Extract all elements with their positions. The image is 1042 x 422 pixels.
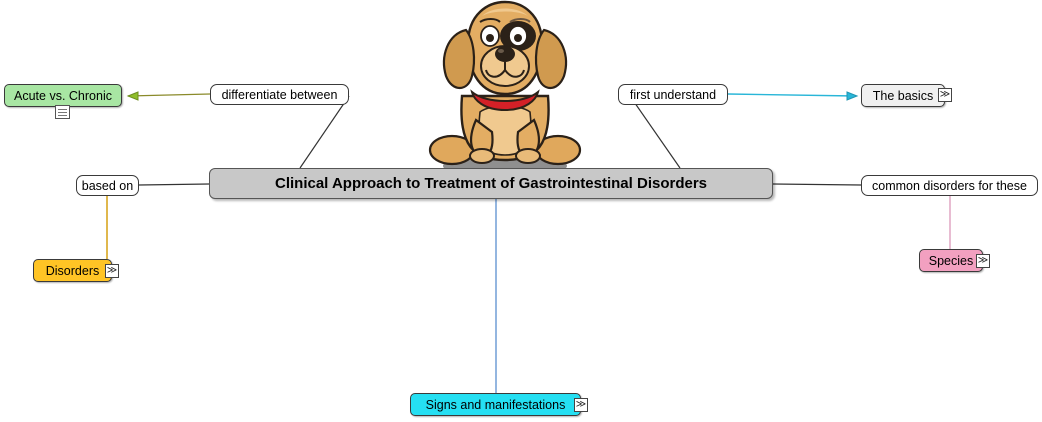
topic-acute-vs-chronic-label: Acute vs. Chronic <box>14 89 112 103</box>
arrowhead-acute <box>128 92 138 100</box>
topic-species-label: Species <box>929 254 973 268</box>
expander-icon-species[interactable]: ≫ <box>976 254 990 268</box>
mind-map-canvas: Clinical Approach to Treatment of Gastro… <box>0 0 1042 422</box>
topic-the-basics[interactable]: The basics <box>861 84 945 107</box>
link-first-understand-basics <box>728 94 855 96</box>
link-central-basedon <box>139 184 209 185</box>
link-central-first-understand <box>630 96 680 168</box>
arrowhead-basics <box>847 92 857 100</box>
expander-icon-signs[interactable]: ≫ <box>574 398 588 412</box>
relation-label-text: first understand <box>630 88 716 102</box>
link-central-common <box>773 184 861 185</box>
topic-signs-and-manifestations[interactable]: Signs and manifestations <box>410 393 581 416</box>
topic-species[interactable]: Species <box>919 249 983 272</box>
expander-icon-the-basics[interactable]: ≫ <box>938 88 952 102</box>
central-topic[interactable]: Clinical Approach to Treatment of Gastro… <box>209 168 773 199</box>
topic-acute-vs-chronic[interactable]: Acute vs. Chronic <box>4 84 122 107</box>
relation-label-based-on[interactable]: based on <box>76 175 139 196</box>
topic-the-basics-label: The basics <box>873 89 933 103</box>
relation-label-text: common disorders for these <box>872 179 1027 193</box>
central-topic-label: Clinical Approach to Treatment of Gastro… <box>275 175 707 192</box>
topic-disorders[interactable]: Disorders <box>33 259 112 282</box>
relation-label-common-disorders[interactable]: common disorders for these <box>861 175 1038 196</box>
relation-label-first-understand[interactable]: first understand <box>618 84 728 105</box>
relation-label-differentiate-between[interactable]: differentiate between <box>210 84 349 105</box>
relation-label-text: based on <box>82 179 133 193</box>
link-differentiate-acute <box>128 94 210 96</box>
expander-icon-disorders[interactable]: ≫ <box>105 264 119 278</box>
link-central-differentiate <box>300 96 349 168</box>
topic-signs-label: Signs and manifestations <box>426 398 566 412</box>
note-icon[interactable] <box>55 105 70 119</box>
topic-disorders-label: Disorders <box>46 264 100 278</box>
cartoon-dog-image <box>410 0 600 178</box>
relation-label-text: differentiate between <box>222 88 338 102</box>
